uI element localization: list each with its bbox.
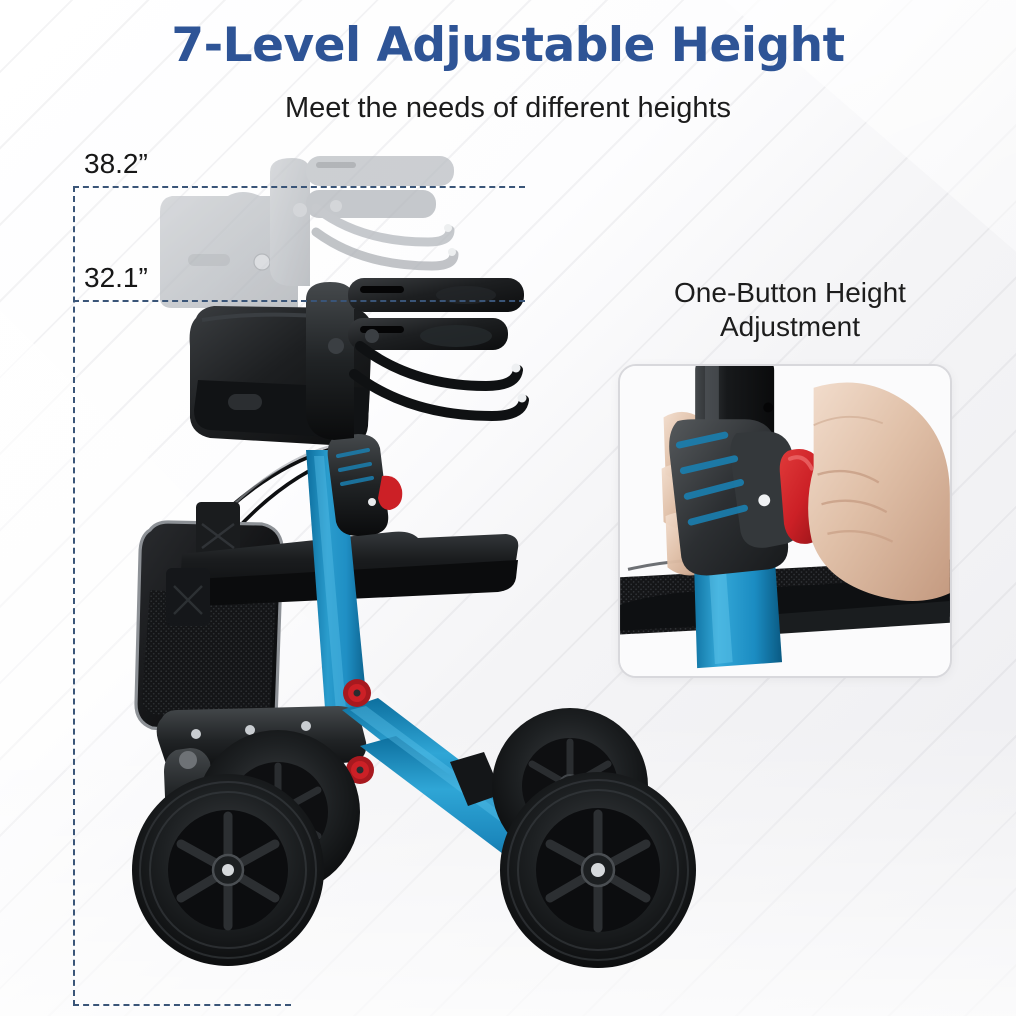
dimension-line-ground	[73, 1004, 291, 1006]
inset-title-line-2: Adjustment	[600, 310, 980, 344]
front-caster-wheel-left	[132, 774, 324, 966]
page-subtitle: Meet the needs of different heights	[0, 92, 1016, 125]
inset-photo-one-button-adjustment	[618, 364, 952, 678]
dimension-line-vertical	[73, 186, 75, 1006]
red-release-button-small	[378, 476, 402, 510]
handle-assembly	[306, 278, 527, 440]
dimension-line-min-height	[73, 300, 525, 302]
rear-wheel-left	[500, 772, 696, 968]
inset-title-line-1: One-Button Height	[600, 276, 980, 310]
infographic-canvas: 7-Level Adjustable Height Meet the needs…	[0, 0, 1016, 1016]
inset-title: One-Button Height Adjustment	[600, 276, 980, 344]
page-title: 7-Level Adjustable Height	[0, 18, 1016, 73]
brake-lever-upper	[360, 346, 518, 386]
dimension-line-max-height	[73, 186, 525, 188]
height-adjust-clamp	[328, 434, 403, 536]
red-knob-upper	[343, 679, 371, 707]
dimension-label-max-height: 38.2”	[84, 148, 148, 180]
dimension-label-min-height: 32.1”	[84, 262, 148, 294]
